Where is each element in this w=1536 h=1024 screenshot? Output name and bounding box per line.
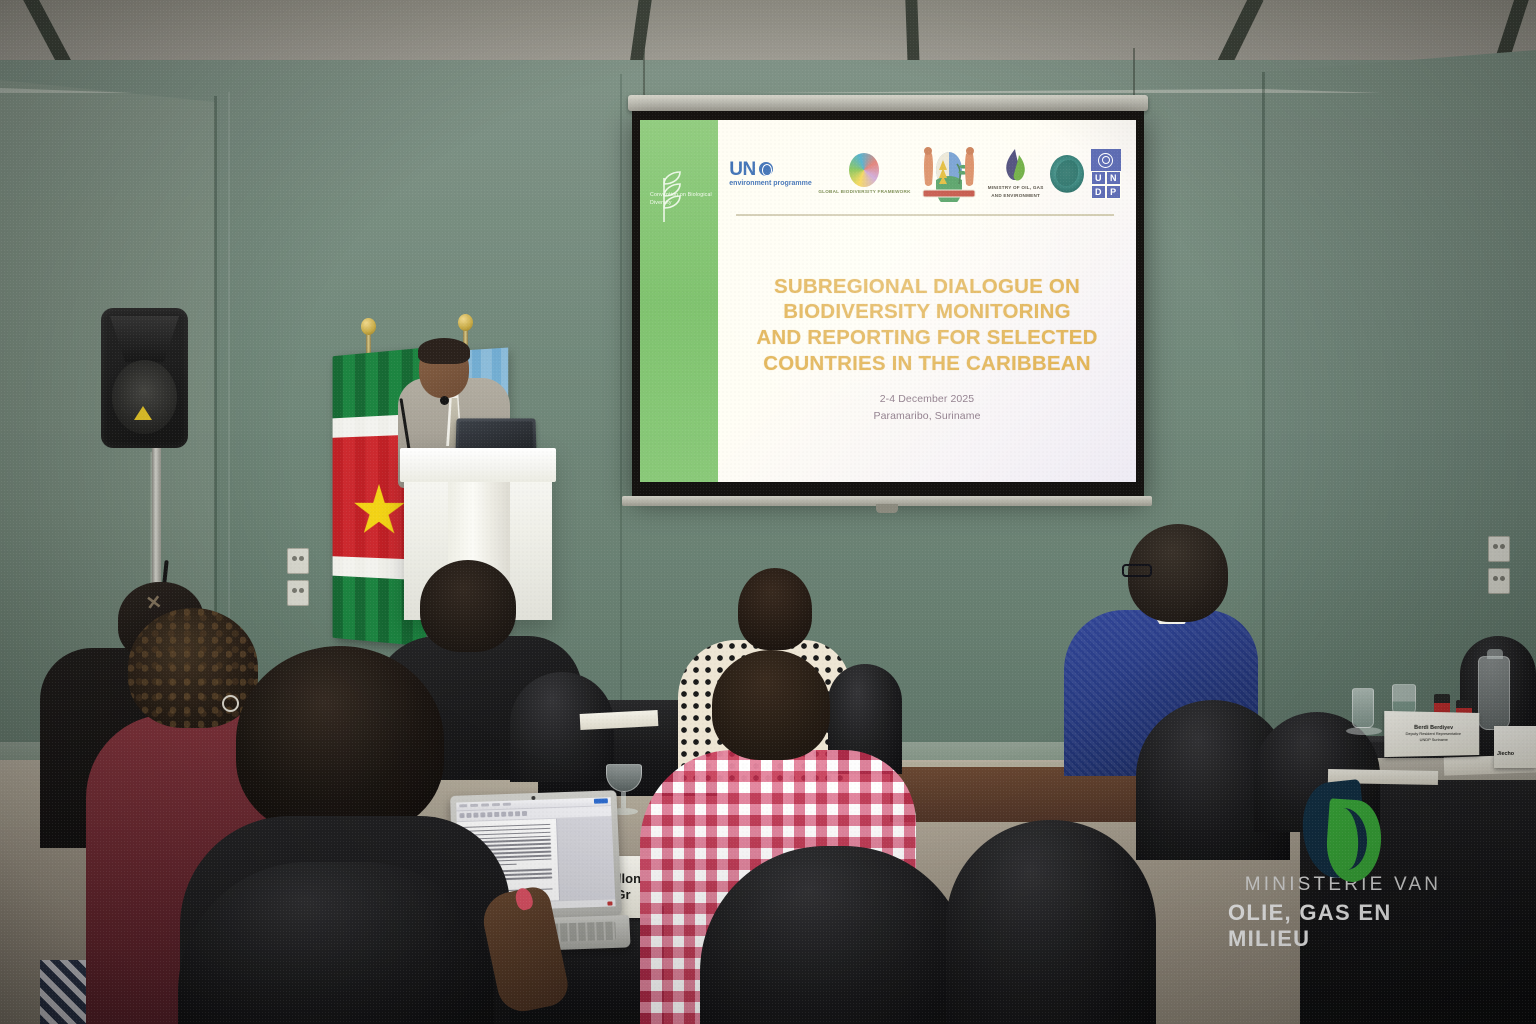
speaker-brand-triangle-icon (134, 406, 152, 420)
slide-title-line-3: AND REPORTING FOR SELECTED (756, 325, 1097, 351)
undp-letters: U N D P (1091, 171, 1121, 199)
cbd-logo-caption: Convention on Biological Diversity (650, 192, 716, 207)
undp-logo-icon: U N D P (1091, 149, 1121, 199)
name-placard: Berdi Berdiyev Deputy Resident Represent… (1384, 711, 1479, 757)
goblet-stem (621, 792, 626, 808)
unep-globe-icon (759, 162, 773, 176)
slide-title-line-1: SUBREGIONAL DIALOGUE ON (774, 274, 1080, 300)
word-side-pane (556, 817, 615, 901)
undp-block: U N D P (1091, 149, 1121, 199)
attendee-head (420, 560, 516, 652)
attendee-head (712, 650, 830, 760)
unep-wordmark-row: UN (729, 160, 772, 179)
undp-letter-u: U (1091, 171, 1106, 185)
gbf-circle-icon (849, 153, 879, 187)
projection-screen-housing (628, 95, 1148, 111)
slide-title-line-4: COUNTRIES IN THE CARIBBEAN (763, 351, 1091, 377)
undp-emblem-row (1091, 149, 1121, 171)
screen-mount-wire (643, 50, 645, 98)
placard-role-line2: UNDP Suriname (1420, 738, 1448, 743)
ministry-caption-line1: MINISTRY OF OIL, GAS (988, 185, 1044, 191)
slide-date: 2-4 December 2025 (880, 393, 975, 405)
attendee-head (738, 568, 812, 650)
slide-title-line-2: BIODIVERSITY MONITORING (783, 299, 1070, 325)
screen-mount-wire (1133, 48, 1135, 98)
wall-seam (620, 74, 622, 794)
suriname-coat-of-arms-logo-icon (917, 146, 981, 202)
hoop-earring-icon (222, 695, 239, 712)
unep-wordmark: UN (729, 160, 755, 179)
nature-emblem-icon (1050, 155, 1084, 193)
power-outlet (1488, 568, 1510, 594)
upturned-glass (1352, 688, 1374, 728)
slide-location: Paramaribo, Suriname (873, 410, 980, 422)
microphone-icon (440, 396, 449, 405)
coat-of-arms-icon (917, 146, 981, 202)
water-carafe (1478, 656, 1510, 730)
gbf-caption: GLOBAL BIODIVERSITY FRAMEWORK (818, 189, 910, 195)
pull-down-projection-screen: Convention on Biological Diversity UN en… (632, 111, 1144, 496)
glasses-icon (1122, 564, 1152, 577)
un-emblem-icon (1098, 153, 1113, 168)
presenter-hair (418, 338, 470, 364)
flagpole-finial (361, 318, 376, 335)
placard-name: Jiecho (1497, 751, 1514, 757)
flagpole-finial (458, 314, 473, 331)
undp-letter-p: P (1106, 185, 1121, 199)
ministry-oil-gas-environment-logo-icon: MINISTRY OF OIL, GAS AND ENVIRONMENT (988, 149, 1044, 199)
gbf-logo-icon: GLOBAL BIODIVERSITY FRAMEWORK (818, 153, 910, 195)
speaker-woofer (112, 360, 177, 434)
ministry-leaf-icon (1003, 149, 1029, 183)
projection-screen-bottom-bar (622, 496, 1152, 506)
chair (946, 820, 1156, 1024)
goblet-bowl (606, 764, 642, 792)
undp-letter-d: D (1091, 185, 1106, 199)
power-outlet (287, 580, 309, 606)
wall-seam (1262, 72, 1265, 772)
attendee-hair-texture (128, 608, 258, 728)
speaker-horn (110, 316, 179, 362)
attendee-head (236, 646, 444, 836)
podium-top (400, 448, 556, 482)
slide-body: UN environment programme GLOBAL BIODIVER… (718, 120, 1136, 482)
undp-letter-n: N (1106, 171, 1121, 185)
name-placard: Jiecho (1494, 726, 1536, 768)
presentation-slide: Convention on Biological Diversity UN en… (640, 120, 1136, 482)
nature-emblem-logo-icon (1050, 155, 1084, 193)
power-outlet (287, 548, 309, 574)
slide-title-block: SUBREGIONAL DIALOGUE ON BIODIVERSITY MON… (718, 216, 1136, 483)
cap-emblem-icon: ✕ (144, 591, 163, 616)
unep-caption: environment programme (729, 180, 811, 189)
pa-loudspeaker-icon (101, 308, 188, 448)
slide-sidebar: Convention on Biological Diversity (640, 120, 718, 482)
slide-logo-row: UN environment programme GLOBAL BIODIVER… (718, 120, 1136, 212)
ministry-caption-line2: AND ENVIRONMENT (991, 193, 1040, 199)
conference-room-photo: Convention on Biological Diversity UN en… (0, 0, 1536, 1024)
unep-logo-icon: UN environment programme (729, 160, 811, 189)
papers (1328, 769, 1438, 785)
suriname-flag-star-icon (353, 484, 406, 539)
power-outlet (1488, 536, 1510, 562)
